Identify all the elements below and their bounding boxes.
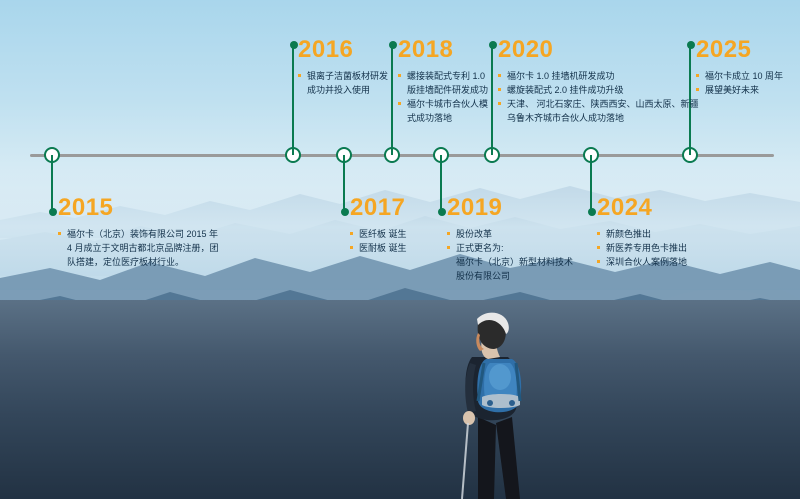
timeline-entry-2020: 2020 福尔卡 1.0 挂墙机研发成功 螺旋装配式 2.0 挂件成功升级 天津… [498, 38, 699, 125]
node-capdot-2018 [389, 41, 397, 49]
node-capdot-2019 [438, 208, 446, 216]
bullet-item: 式成功落地 [398, 111, 488, 125]
node-capdot-2016 [290, 41, 298, 49]
timeline-entry-2016: 2016 银离子洁菌板材研发 成功并投入使用 [298, 38, 388, 97]
bullet-item: 4 月成立于文明古都北京品牌注册，团 [58, 241, 219, 255]
year-label-2017: 2017 [350, 196, 407, 220]
node-stem-2024 [590, 155, 592, 212]
valley-texture [0, 300, 800, 499]
bullet-item: 银离子洁菌板材研发 [298, 69, 388, 83]
bullet-item: 成功并投入使用 [298, 83, 388, 97]
node-capdot-2017 [341, 208, 349, 216]
bullet-item: 版挂墙配件研发成功 [398, 83, 488, 97]
bullet-item: 队搭建，定位医疗板材行业。 [58, 255, 219, 269]
timeline-entry-2024: 2024 新颜色推出 新医养专用色卡推出 深圳合伙人案例落地 [597, 196, 687, 269]
bullet-item: 股份有限公司 [447, 269, 573, 283]
bullet-item: 天津、 河北石家庄、陕西西安、山西太原、新疆 [498, 97, 699, 111]
year-label-2020: 2020 [498, 38, 699, 62]
node-stem-2016 [292, 45, 294, 155]
bullet-item: 乌鲁木齐城市合伙人成功落地 [498, 111, 699, 125]
entry-bullets-2020: 福尔卡 1.0 挂墙机研发成功 螺旋装配式 2.0 挂件成功升级 天津、 河北石… [498, 69, 699, 125]
node-capdot-2015 [49, 208, 57, 216]
bullet-item: 医耐板 诞生 [350, 241, 407, 255]
year-label-2025: 2025 [696, 38, 783, 62]
timeline-entry-2018: 2018 螺接装配式专利 1.0 版挂墙配件研发成功 福尔卡城市合伙人模 式成功… [398, 38, 488, 125]
bullet-item: 福尔卡成立 10 周年 [696, 69, 783, 83]
node-stem-2015 [51, 155, 53, 212]
bullet-item: 医纤板 诞生 [350, 227, 407, 241]
entry-bullets-2024: 新颜色推出 新医养专用色卡推出 深圳合伙人案例落地 [597, 227, 687, 269]
entry-bullets-2019: 股份改革 正式更名为: 福尔卡（北京）新型材料技术 股份有限公司 [447, 227, 573, 283]
year-label-2016: 2016 [298, 38, 388, 62]
node-capdot-2024 [588, 208, 596, 216]
bullet-item: 福尔卡（北京）装饰有限公司 2015 年 [58, 227, 219, 241]
bullet-item: 正式更名为: [447, 241, 573, 255]
year-label-2024: 2024 [597, 196, 687, 220]
node-stem-2017 [343, 155, 345, 212]
node-stem-2018 [391, 45, 393, 155]
timeline-entry-2015: 2015 福尔卡（北京）装饰有限公司 2015 年 4 月成立于文明古都北京品牌… [58, 196, 219, 269]
entry-bullets-2018: 螺接装配式专利 1.0 版挂墙配件研发成功 福尔卡城市合伙人模 式成功落地 [398, 69, 488, 125]
entry-bullets-2016: 银离子洁菌板材研发 成功并投入使用 [298, 69, 388, 97]
year-label-2018: 2018 [398, 38, 488, 62]
bullet-item: 股份改革 [447, 227, 573, 241]
year-label-2019: 2019 [447, 196, 573, 220]
timeline-entry-2017: 2017 医纤板 诞生 医耐板 诞生 [350, 196, 407, 255]
node-stem-2019 [440, 155, 442, 212]
timeline-axis [30, 154, 774, 157]
year-label-2015: 2015 [58, 196, 219, 220]
bullet-item: 深圳合伙人案例落地 [597, 255, 687, 269]
hiker-figure [420, 305, 560, 499]
entry-bullets-2017: 医纤板 诞生 医耐板 诞生 [350, 227, 407, 255]
timeline-infographic: 2016 银离子洁菌板材研发 成功并投入使用 2018 螺接装配式专利 1.0 … [0, 0, 800, 499]
bullet-item: 螺旋装配式 2.0 挂件成功升级 [498, 83, 699, 97]
bullet-item: 福尔卡 1.0 挂墙机研发成功 [498, 69, 699, 83]
bullet-item: 福尔卡（北京）新型材料技术 [447, 255, 573, 269]
timeline-entry-2025: 2025 福尔卡成立 10 周年 展望美好未来 [696, 38, 783, 97]
node-capdot-2020 [489, 41, 497, 49]
bullet-item: 新颜色推出 [597, 227, 687, 241]
bullet-item: 福尔卡城市合伙人模 [398, 97, 488, 111]
bullet-item: 展望美好未来 [696, 83, 783, 97]
bullet-item: 螺接装配式专利 1.0 [398, 69, 488, 83]
node-stem-2020 [491, 45, 493, 155]
bullet-item: 新医养专用色卡推出 [597, 241, 687, 255]
timeline-entry-2019: 2019 股份改革 正式更名为: 福尔卡（北京）新型材料技术 股份有限公司 [447, 196, 573, 283]
entry-bullets-2025: 福尔卡成立 10 周年 展望美好未来 [696, 69, 783, 97]
entry-bullets-2015: 福尔卡（北京）装饰有限公司 2015 年 4 月成立于文明古都北京品牌注册，团 … [58, 227, 219, 269]
